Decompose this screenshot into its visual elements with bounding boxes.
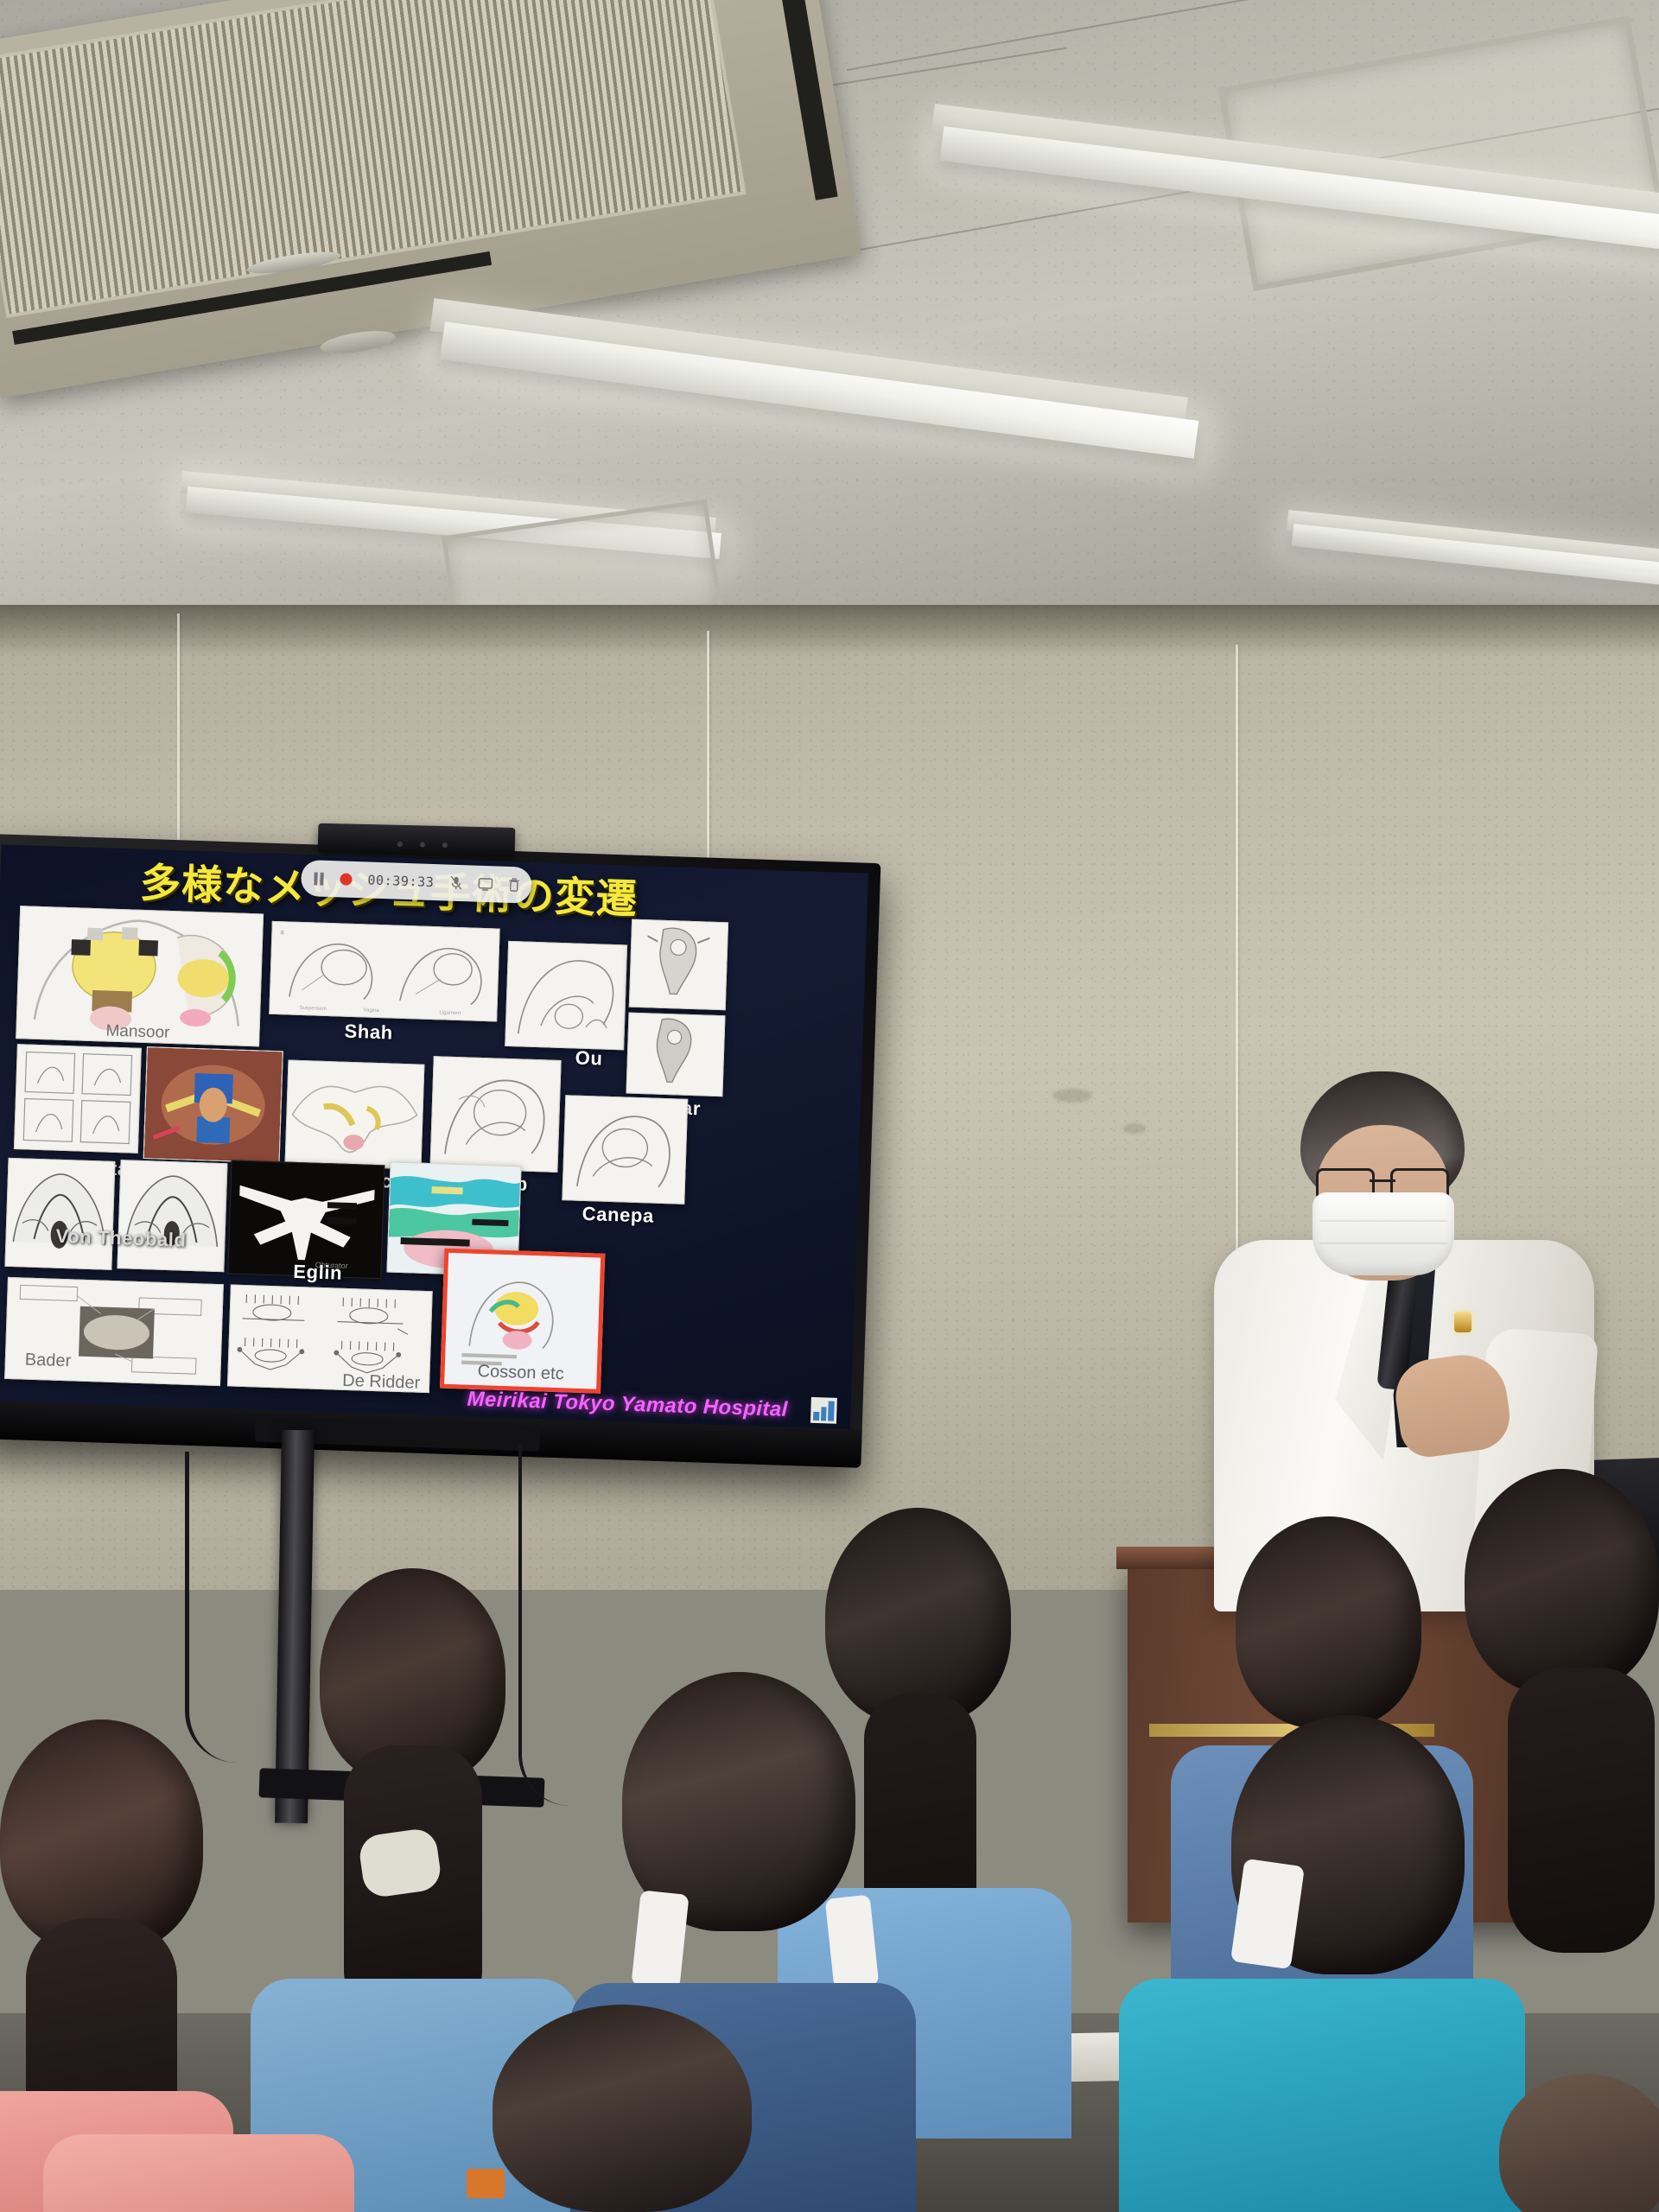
pelvis-line-drawing-art: a Suspension Vagina Ligament [270, 922, 499, 1021]
svg-text:Mansoor: Mansoor [105, 1022, 170, 1042]
screen-share-icon[interactable] [478, 877, 493, 891]
video-conference-camera [318, 823, 516, 857]
slide-thumbnail [4, 1158, 115, 1270]
chair-tag [467, 2169, 505, 2198]
canepa-pelvis-art [563, 1096, 687, 1204]
wall-shadow [0, 605, 1659, 657]
audience-member-7 [1465, 1469, 1659, 1694]
svg-text:Suspension: Suspension [299, 1006, 327, 1012]
trash-icon[interactable] [508, 878, 520, 892]
recording-elapsed: 00:39:33 [367, 872, 435, 890]
hair [493, 2005, 752, 2212]
slide-thumbnail [284, 1060, 424, 1170]
slide-thumbnail: De Ridder [227, 1284, 433, 1393]
svg-text:Ligament: Ligament [439, 1010, 461, 1016]
hair [1465, 1469, 1659, 1694]
surgical-photo-color-art [144, 1047, 283, 1162]
ceiling [0, 0, 1659, 618]
slide-thumbnail [429, 1056, 561, 1173]
photo-scene: 多様なメッシュ手術の変遷 00:39:33 [0, 0, 1659, 2212]
mesh-implant-diagram-art [630, 920, 728, 1010]
footer-brand: Meirikai Tokyo Yamato Hospital [467, 1388, 788, 1422]
svg-text:a: a [280, 928, 284, 936]
slide-thumbnail [143, 1046, 283, 1163]
annotated-histology-art: Bader [5, 1278, 223, 1385]
surgical-mask [1313, 1192, 1454, 1275]
slide-thumbnail: Bader [4, 1277, 224, 1386]
recording-toolbar[interactable]: 00:39:33 [301, 860, 532, 904]
svg-text:Vagina: Vagina [363, 1007, 379, 1014]
pelvis-yellow-mesh-art [286, 1061, 424, 1169]
slide-thumbnail [629, 919, 728, 1011]
slide-thumbnail [117, 1160, 227, 1272]
record-dot-icon[interactable] [340, 873, 352, 885]
slide-label: Ou [575, 1047, 603, 1071]
pause-icon[interactable] [313, 872, 324, 885]
slide-label: Von Theobald [55, 1225, 187, 1252]
svg-text:De Ridder: De Ridder [342, 1371, 421, 1392]
audience-member-6 [1236, 1516, 1421, 1728]
slide-label: Eglin [293, 1261, 343, 1285]
slide-label: Canepa [582, 1203, 654, 1228]
lapel-badge [1454, 1312, 1471, 1332]
surgical-mask [631, 1890, 689, 1989]
ponytail [1508, 1668, 1655, 1953]
hair [1236, 1516, 1421, 1728]
slide-label: Shah [344, 1020, 393, 1045]
slide-thumbnail: a Suspension Vagina Ligament [269, 921, 499, 1022]
hair [825, 1508, 1011, 1724]
mesh-implant-diagram-art-2 [626, 1014, 724, 1096]
svg-text:Bader: Bader [24, 1351, 71, 1371]
slide-thumbnail [562, 1095, 688, 1205]
highlighted-thumbnail: Cosson etc [440, 1249, 605, 1394]
slide-thumbnail [626, 1013, 725, 1097]
wall-mark [1123, 1123, 1146, 1134]
slide-thumbnail [505, 941, 627, 1051]
suture-schematic-art: De Ridder [228, 1285, 432, 1392]
mic-off-icon[interactable] [449, 876, 463, 890]
audience-member-4 [825, 1508, 1011, 1724]
pelvis-mesh-yellow-art: Mansoor [16, 906, 263, 1046]
sagittal-line-drawing-art [505, 942, 626, 1049]
pelvic-floor-anatomy-art [5, 1159, 114, 1269]
pelvic-floor-anatomy-art-2 [118, 1160, 226, 1271]
slide-thumbnail [14, 1044, 142, 1154]
descamp-pelvis-art [430, 1057, 560, 1172]
presentation-slide: 多様なメッシュ手術の変遷 00:39:33 [0, 844, 868, 1429]
surgical-mask [825, 1895, 880, 1990]
wall-display[interactable]: 多様なメッシュ手術の変遷 00:39:33 [0, 834, 880, 1468]
scrub-top [43, 2134, 354, 2212]
audience-member-9 [493, 2005, 752, 2212]
bar-chart-logo [810, 1397, 837, 1424]
wall-mark [1052, 1089, 1092, 1103]
slide-thumbnail: Mansoor [16, 906, 264, 1046]
tv-screen: 多様なメッシュ手術の変遷 00:39:33 [0, 844, 868, 1429]
schematic-grid-art [15, 1045, 141, 1153]
scrub-top [1119, 1979, 1525, 2212]
